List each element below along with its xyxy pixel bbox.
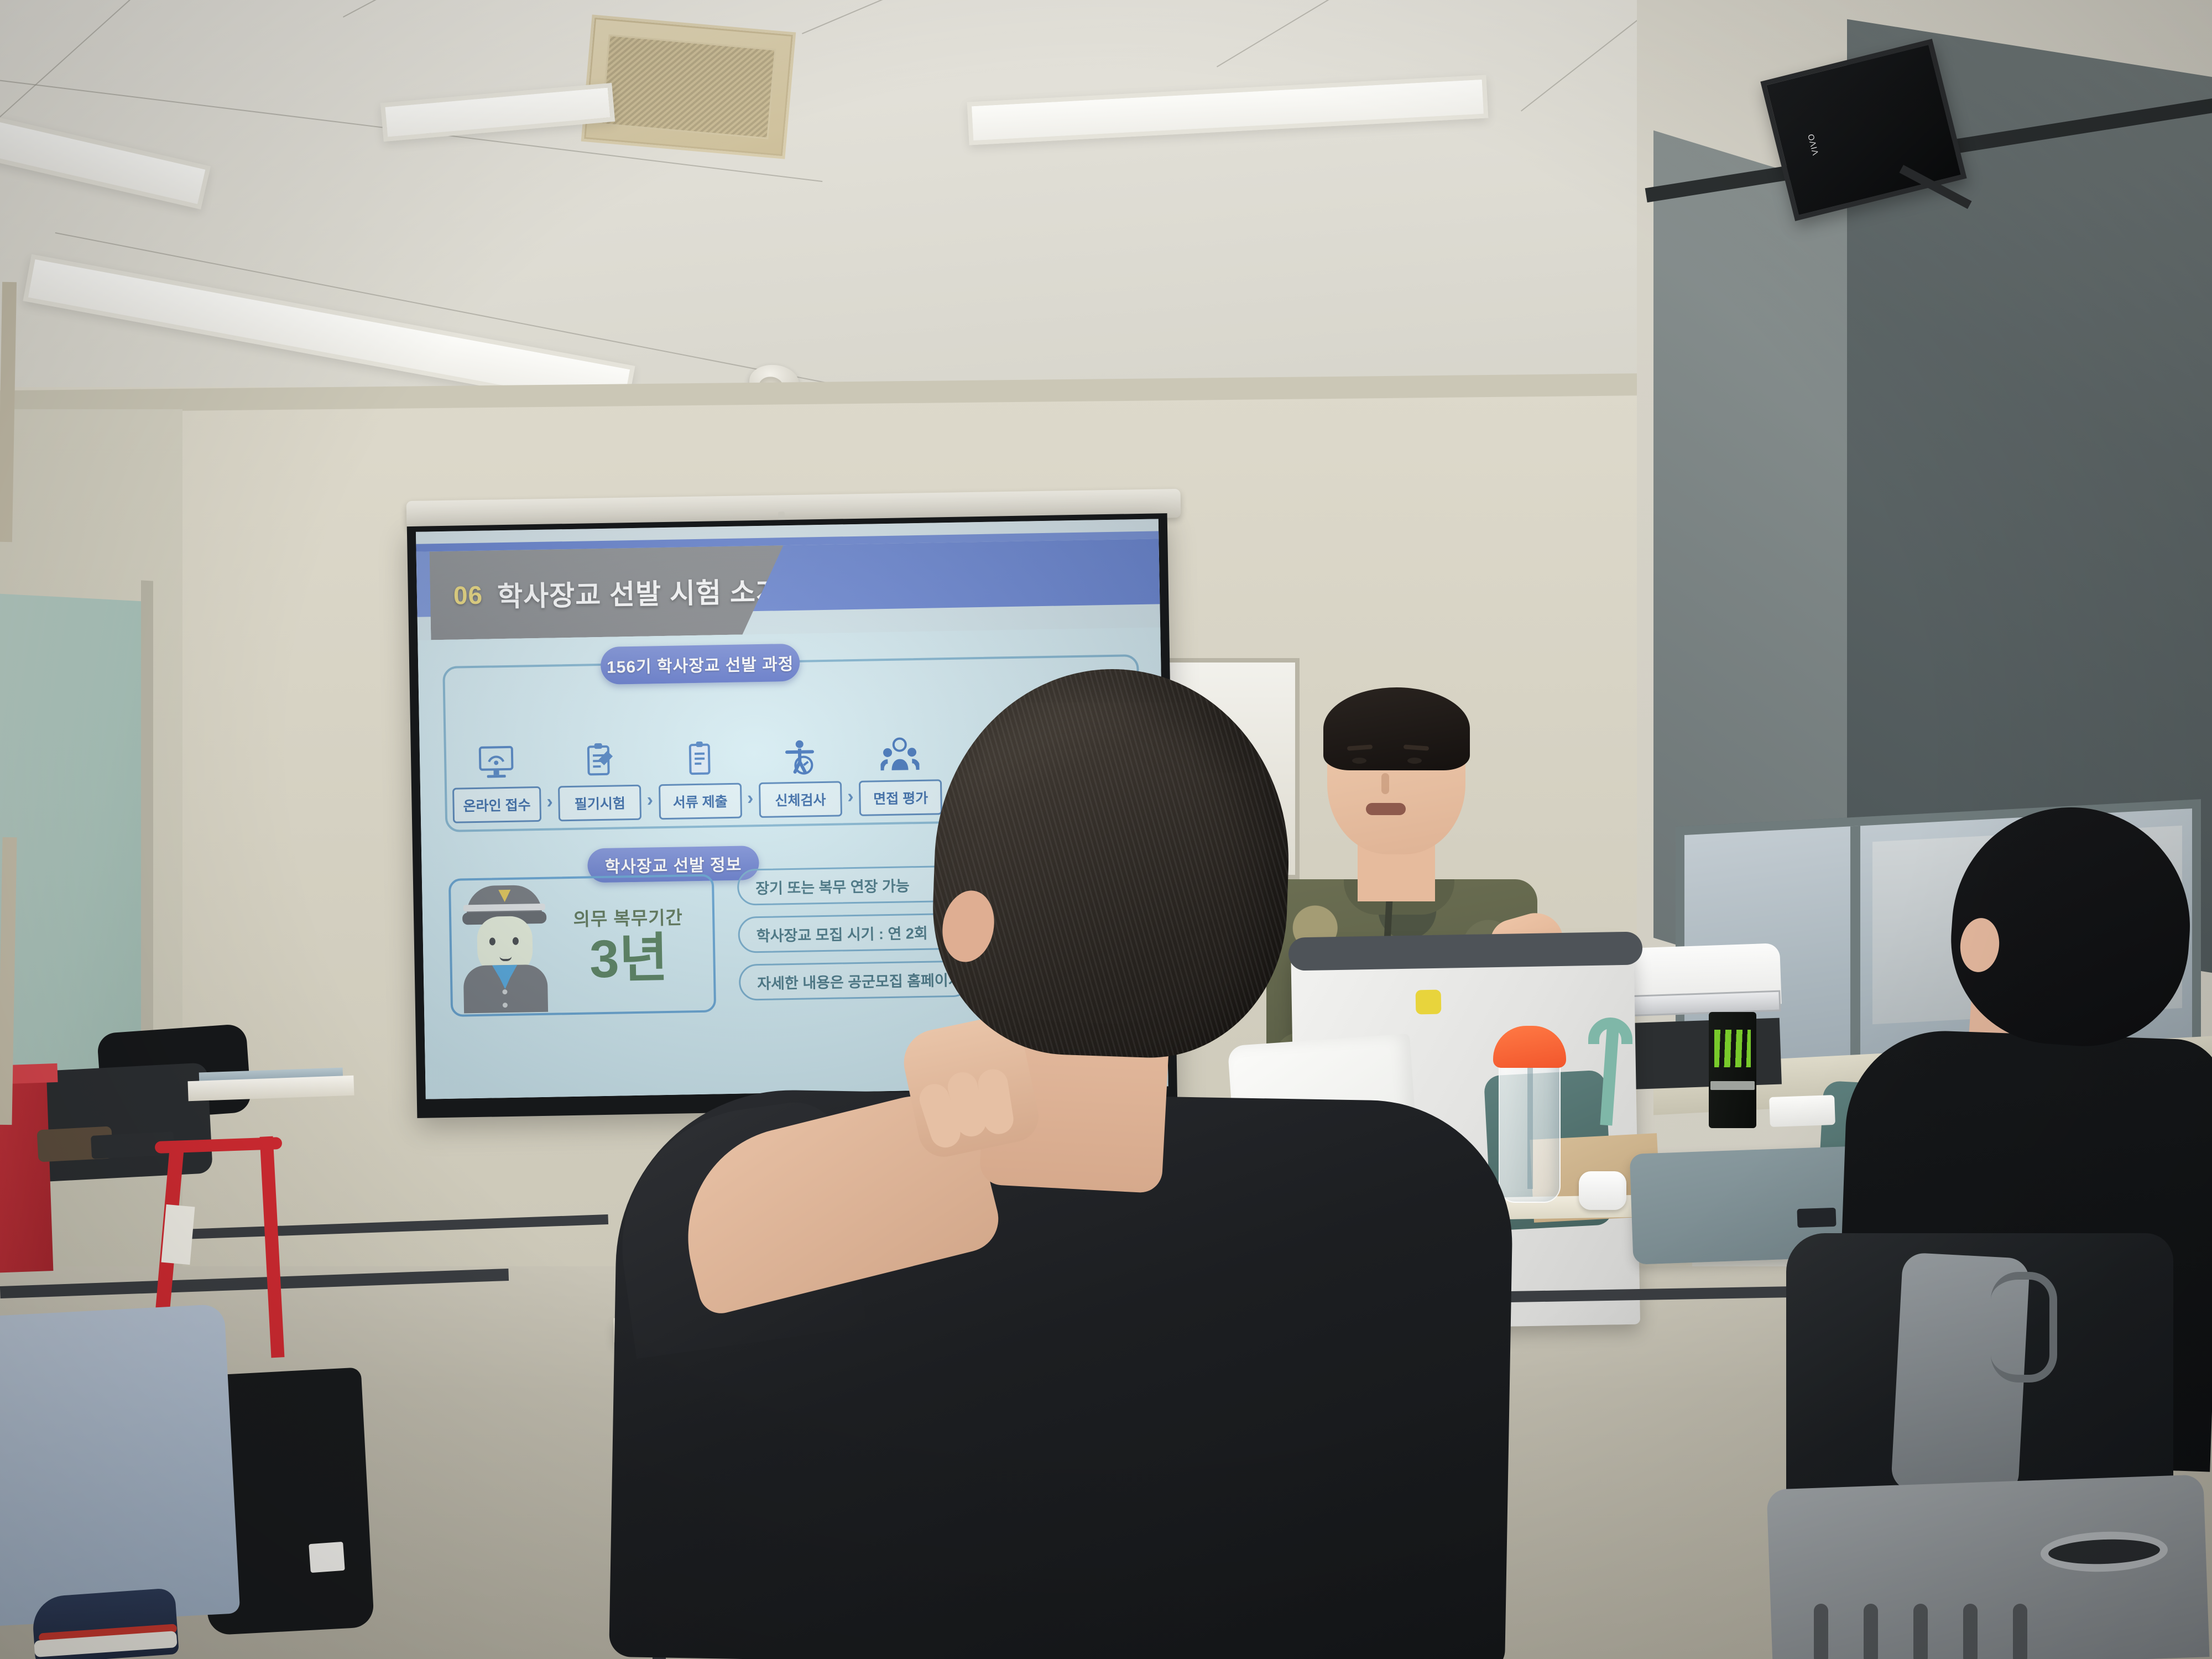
clipboard-pen-icon: [580, 740, 619, 782]
hvac-ceiling-vent-icon: [581, 14, 796, 159]
slide-title: 학사장교 선발 시험 소개: [497, 570, 782, 614]
interview-panel-icon: [880, 735, 920, 777]
duty-period-label: 의무 복무기간: [550, 902, 706, 932]
officer-avatar-icon: [458, 881, 552, 1013]
bag-brand-label: [309, 1542, 345, 1573]
process-step: 온라인 접수: [452, 742, 541, 823]
white-charger-box: [1769, 1095, 1835, 1127]
process-step-label: 필기시험: [558, 785, 641, 822]
duty-period-box: 의무 복무기간 3년: [448, 874, 716, 1016]
process-badge: 156기 학사장교 선발 과정: [601, 644, 800, 685]
process-step: 필기시험: [557, 740, 641, 822]
process-step-label: 서류 제출: [659, 783, 742, 820]
stacking-chair[interactable]: [1766, 1474, 2209, 1659]
airpods-case: [1579, 1171, 1626, 1210]
slide-section-number: 06: [453, 580, 483, 611]
process-step-label: 온라인 접수: [452, 786, 541, 823]
classroom-scene: VIVO 06 학사장교 선발 시험 소개 156기 학사장교 선발 과정: [0, 0, 2212, 1659]
process-step: 면접 평가: [858, 735, 942, 816]
process-step-label: 신체검사: [759, 781, 842, 818]
info-note: 자세한 내용은 공군모집 홈페이지: [739, 960, 972, 1000]
chevron-right-icon: ›: [546, 791, 553, 813]
process-step: 서류 제출: [658, 739, 742, 820]
monitor-wifi-icon: [477, 743, 516, 784]
document-icon: [680, 739, 719, 780]
presenter-hair: [1323, 687, 1470, 770]
podium-sticker: [1416, 990, 1442, 1015]
strap-label: [161, 1204, 195, 1265]
process-step-label: 면접 평가: [859, 779, 942, 816]
chevron-right-icon: ›: [646, 789, 653, 811]
student-left-jeans: [0, 1304, 240, 1627]
fitness-test-icon: [780, 737, 819, 779]
duty-period-value: 3년: [551, 931, 707, 987]
process-step: 신체검사: [758, 737, 842, 818]
chevron-right-icon: ›: [747, 787, 754, 809]
chevron-right-icon: ›: [847, 786, 854, 807]
podium-trim: [1288, 931, 1643, 971]
laptop-sleeve-tag: [1797, 1208, 1836, 1228]
slide-header: 06 학사장교 선발 시험 소개: [430, 545, 785, 640]
